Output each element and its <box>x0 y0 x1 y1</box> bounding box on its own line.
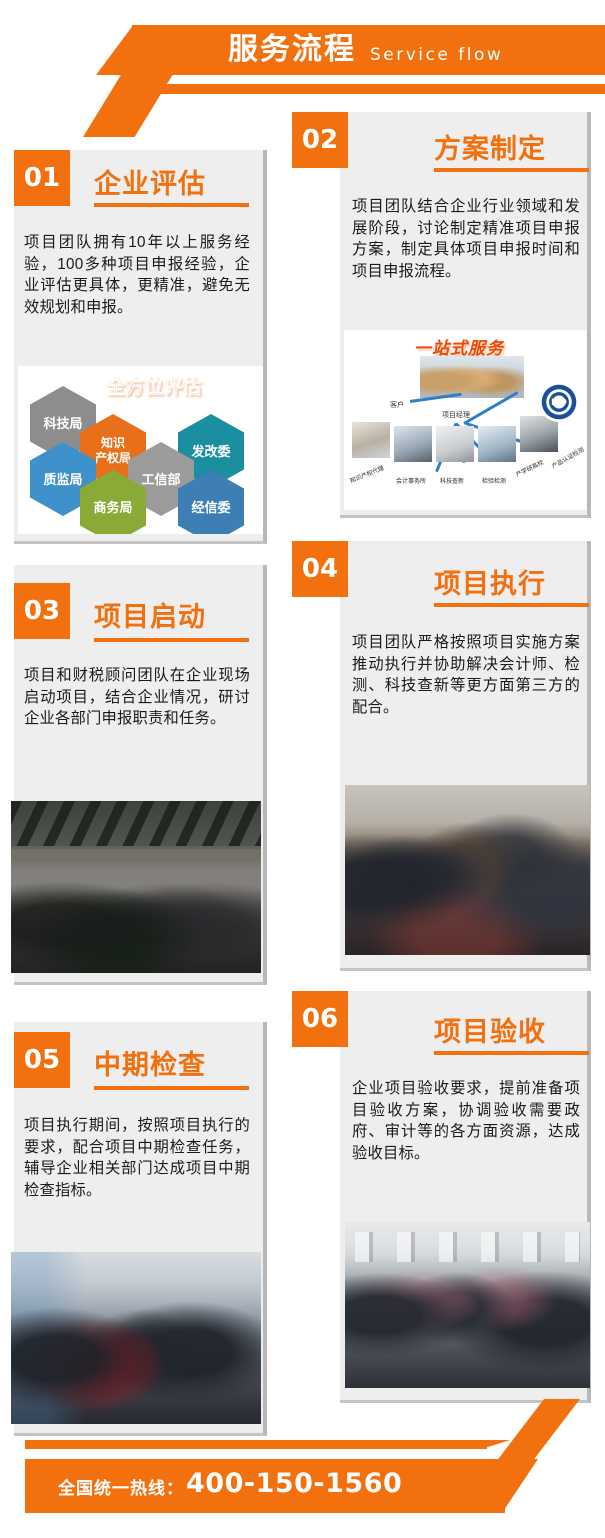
iso-seal-icon: ISO <box>539 382 579 422</box>
hex-diagram: 全方位评估 科技局 知识 产权局 发改委 质监局 工信部 经信委 商务局 <box>18 366 263 534</box>
footer-bar-slant <box>480 1459 538 1513</box>
card-01-title-underline <box>94 203 249 207</box>
one-stop-thumb-search <box>436 426 474 462</box>
card-01-badge: 01 <box>14 150 70 206</box>
one-stop-thumb-ip <box>352 422 390 458</box>
one-stop-thumb-testing <box>478 426 516 462</box>
one-stop-caption-accounting: 会计事务所 <box>396 476 426 485</box>
hotline-label: 全国统一热线： <box>58 1474 184 1499</box>
card-03-badge: 03 <box>14 583 70 639</box>
card-04-photo <box>345 785 590 955</box>
card-06-badge: 06 <box>292 991 348 1047</box>
card-04-badge: 04 <box>292 541 348 597</box>
one-stop-label-customer: 客户 <box>390 400 404 410</box>
card-06-title: 项目验收 <box>434 1010 546 1049</box>
iso-seal-label: ISO <box>539 382 579 422</box>
one-stop-center-photo <box>420 356 524 398</box>
card-03-body: 项目和财税顾问团队在企业现场启动项目，结合企业情况，研讨企业各部门申报职责和任务… <box>24 665 250 730</box>
card-05-title: 中期检查 <box>94 1043 206 1082</box>
card-02-title: 方案制定 <box>434 127 546 166</box>
page-subtitle: Service flow <box>370 45 503 65</box>
card-01-title: 企业评估 <box>94 162 206 201</box>
card-02-body: 项目团队结合企业行业领域和发展阶段，讨论制定精准项目申报方案，制定具体项目申报时… <box>352 196 580 282</box>
card-02-badge: 02 <box>292 112 348 168</box>
one-stop-caption-testing: 检验检测 <box>482 476 506 485</box>
card-05-body: 项目执行期间，按照项目执行的要求，配合项目中期检查任务，辅导企业相关部门达成项目… <box>24 1115 250 1201</box>
card-04-title: 项目执行 <box>434 562 546 601</box>
one-stop-label-manager: 项目经理 <box>442 410 470 420</box>
one-stop-caption-university: 产学研高校 <box>514 457 545 478</box>
card-05-title-underline <box>94 1086 249 1090</box>
card-04-body: 项目团队严格按照项目实施方案推动执行并协助解决会计师、检测、科技查新等更方面第三… <box>352 632 580 718</box>
service-flow-infographic: 服务流程 Service flow 01 企业评估 项目团队拥有10年以上服务经… <box>0 0 605 1538</box>
card-03-photo <box>11 801 261 973</box>
card-03-title-underline <box>94 638 249 642</box>
card-06-title-underline <box>434 1051 589 1055</box>
one-stop-thumb-accounting <box>394 426 432 462</box>
one-stop-caption-search: 科技查新 <box>440 476 464 485</box>
card-06-body: 企业项目验收要求，提前准备项目验收方案，协调验收需要政府、审计等的各方面资源，达… <box>352 1078 580 1164</box>
card-05-badge: 05 <box>14 1032 70 1088</box>
one-stop-diagram: 一站式服务 客户 项目经理 ISO 知识产权代理 会计事务所 科技查新 检验检测… <box>344 330 587 510</box>
card-04-title-underline <box>434 603 589 607</box>
card-01-body: 项目团队拥有10年以上服务经验，100多种项目申报经验，企业评估更具体，更精准，… <box>24 232 250 318</box>
card-03-title: 项目启动 <box>94 595 206 634</box>
hex-diagram-title: 全方位评估 <box>106 372 201 399</box>
card-06-photo <box>345 1222 590 1388</box>
page-footer: 全国统一热线： 400-150-1560 <box>0 1398 605 1538</box>
card-02-title-underline <box>434 168 589 172</box>
hotline-number[interactable]: 400-150-1560 <box>186 1468 402 1499</box>
step-card-06: 06 项目验收 企业项目验收要求，提前准备项目验收方案，协调验收需要政府、审计等… <box>0 0 245 166</box>
one-stop-caption-ip: 知识产权代理 <box>348 463 385 485</box>
footer-stripe <box>25 1440 487 1449</box>
